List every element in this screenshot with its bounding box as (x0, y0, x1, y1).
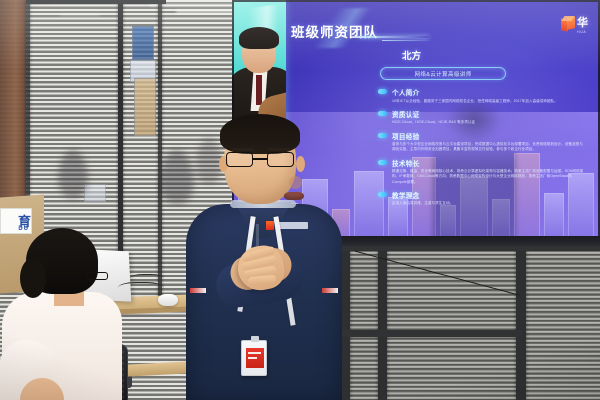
title-underline-secondary (382, 40, 432, 41)
presenter-glasses-icon (226, 152, 294, 167)
slide-header-title: 班级师资团队 (291, 21, 378, 41)
section-heading: 个人简介 (392, 87, 586, 97)
wall-poster-blue (132, 26, 154, 60)
ceiling-light-strip (60, 14, 100, 16)
section-body: 精通交换、路由、安全等网络核心技术，熟悉云计算虚拟化架构与容器技术；熟悉主流厂商… (392, 169, 586, 185)
truss-post (516, 243, 526, 400)
title-underline (359, 36, 429, 38)
logo-text: 华 (577, 14, 588, 30)
truss-rail-mid (332, 330, 522, 337)
bullet-icon (378, 160, 387, 165)
slide-section: 个人简介 10年ICT从业经验，曾服务于三家国内网络知名企业，担任网络高级工程师… (378, 87, 586, 104)
desk-cable (130, 274, 164, 284)
id-badge (241, 340, 267, 376)
presenter (186, 112, 342, 400)
section-body: 曾参与多个大中型企业网络改造与云平台建设项目，完成数据中心虚拟化平台部署项目，负… (392, 142, 586, 153)
section-heading: 资质认证 (392, 109, 586, 119)
bullet-icon (378, 192, 387, 197)
slide-section: 技术特长 精通交换、路由、安全等网络核心技术，熟悉云计算虚拟化架构与容器技术；熟… (378, 158, 586, 185)
wall-poster-small (84, 184, 106, 202)
slide-content: 北方 网络&云计算高级讲师 个人简介 10年ICT从业经验，曾服务于三家国内网络… (378, 48, 586, 207)
computer-mouse (158, 294, 178, 306)
section-body: HCIE-Cloud、HCIE-Cloud、HCIE-R&S 等多项认证 (392, 120, 586, 125)
slide-section: 资质认证 HCIE-Cloud、HCIE-Cloud、HCIE-R&S 等多项认… (378, 109, 586, 126)
screenshot-root: 班级师资团队 华 HUA (0, 0, 600, 400)
bullet-icon (378, 111, 387, 116)
section-body: 10年ICT从业经验，曾服务于三家国内网络知名企业，担任网络高级工程师，2017… (392, 99, 586, 104)
cube-logo-icon (561, 17, 575, 32)
attendee-glasses-icon (86, 272, 108, 280)
brand-logo: 华 HUA (561, 14, 588, 34)
teacher-name: 北方 (402, 48, 586, 62)
ceiling-light-strip (176, 10, 240, 13)
section-body: 由浅入深由易到难，注重与学生互动。 (392, 201, 586, 206)
wall-poster-board (134, 78, 156, 136)
seated-attendee (2, 228, 128, 400)
section-heading: 教学理念 (392, 190, 586, 200)
ceiling-light-strip (150, 4, 240, 6)
window-transom (26, 0, 166, 4)
window-mullion (158, 0, 162, 300)
sleeve-trim (322, 288, 338, 293)
logo-subtext: HUA (577, 30, 588, 34)
teacher-tagline: 网络&云计算高级讲师 (380, 67, 506, 80)
sleeve-trim (190, 288, 206, 293)
section-heading: 项目经验 (392, 131, 586, 141)
bullet-icon (378, 89, 387, 94)
bullet-icon (378, 133, 387, 138)
shirt-chest-logo (266, 220, 308, 231)
slide-section: 项目经验 曾参与多个大中型企业网络改造与云平台建设项目，完成数据中心虚拟化平台部… (378, 131, 586, 153)
section-heading: 技术特长 (392, 158, 586, 168)
slide-section: 教学理念 由浅入深由易到难，注重与学生互动。 (378, 190, 586, 207)
